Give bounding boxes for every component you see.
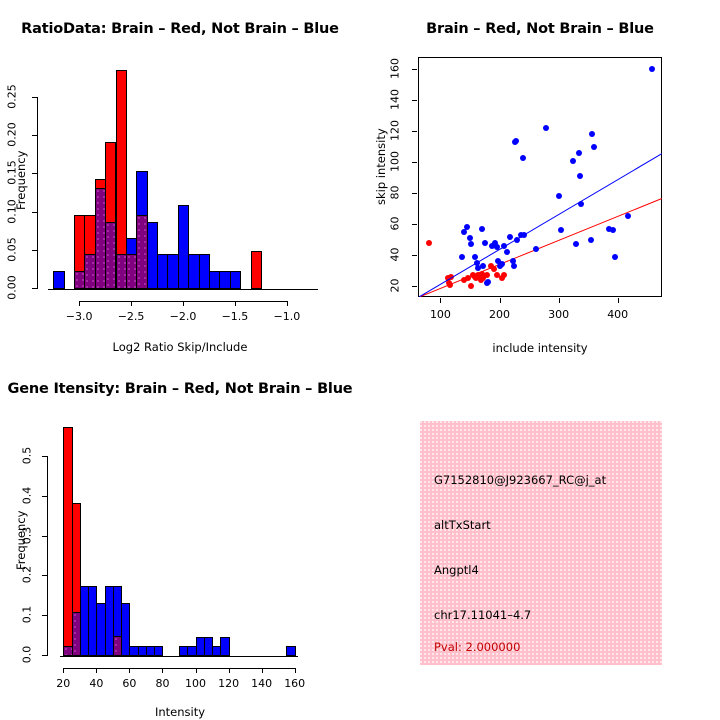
scatter-point-not-brain-21 [507, 234, 513, 240]
info-pval: Pval: 2.000000 [434, 640, 520, 654]
figure-canvas: RatioData: Brain – Red, Not Brain – Blue… [0, 0, 720, 720]
ratio-histogram-x-tick [79, 301, 80, 306]
info-gene-symbol: Angptl4 [434, 563, 479, 577]
gene-intensity-y-tick-label: 0.3 [21, 522, 34, 548]
scatter-y-tick-label: 100 [389, 149, 402, 175]
info-locus: chr17.11041–4.7 [434, 608, 531, 622]
gene-intensity-bar-blue-11 [154, 646, 163, 656]
gene-intensity-y-tick [42, 536, 47, 537]
ratio-histogram-x-tick [183, 301, 184, 306]
ratio-histogram-panel: RatioData: Brain – Red, Not Brain – Blue… [0, 0, 360, 360]
scatter-y-tick-label: 140 [389, 87, 402, 113]
ratio-histogram-y-tick [32, 135, 37, 136]
ratio-histogram-x-tick-label: −3.0 [59, 310, 99, 323]
scatter-y-tick [412, 224, 417, 225]
gene-intensity-y-tick-label: 0.1 [21, 602, 34, 628]
scatter-point-not-brain-41 [591, 144, 597, 150]
scatter-point-not-brain-39 [588, 237, 594, 243]
scatter-y-tick [412, 286, 417, 287]
scatter-point-not-brain-2 [464, 224, 470, 230]
info-panel-container: G7152810@J923667_RC@j_at altTxStart Angp… [360, 360, 720, 720]
scatter-point-not-brain-33 [558, 227, 564, 233]
gene-intensity-y-tick [42, 456, 47, 457]
gene-intensity-y-axis-line [47, 456, 48, 656]
scatter-point-not-brain-34 [570, 158, 576, 164]
gene-intensity-x-tick [162, 668, 163, 673]
gene-intensity-x-tick-rule [63, 668, 294, 669]
scatter-y-tick-label: 120 [389, 118, 402, 144]
gene-intensity-y-tick [42, 615, 47, 616]
scatter-x-tick [440, 298, 441, 303]
gene-intensity-y-tick [42, 575, 47, 576]
scatter-y-tick [412, 69, 417, 70]
gene-info-panel: G7152810@J923667_RC@j_at altTxStart Angp… [420, 421, 662, 665]
ratio-histogram-y-tick [32, 212, 37, 213]
scatter-y-tick-label: 20 [389, 273, 402, 299]
scatter-point-not-brain-31 [543, 125, 549, 131]
info-probe-id: G7152810@J923667_RC@j_at [434, 473, 606, 487]
gene-intensity-y-tick-label: 0.4 [21, 482, 34, 508]
scatter-y-tick [412, 193, 417, 194]
scatter-x-tick-label: 200 [480, 308, 520, 321]
scatter-point-not-brain-5 [472, 254, 478, 260]
gene-intensity-x-tick [129, 668, 130, 673]
ratio-histogram-y-tick [32, 97, 37, 98]
scatter-point-not-brain-28 [520, 155, 526, 161]
gene-intensity-histogram-plot-area: 0.00.10.20.30.40.520406080100120140160 [0, 360, 360, 720]
scatter-y-tick [412, 255, 417, 256]
scatter-point-not-brain-23 [511, 263, 517, 269]
ratio-histogram-bar-blue-0 [53, 271, 64, 289]
scatter-point-not-brain-29 [521, 232, 527, 238]
gene-intensity-x-tick [96, 668, 97, 673]
gene-intensity-bar-blue-27 [286, 646, 295, 656]
scatter-point-not-brain-3 [467, 235, 473, 241]
ratio-histogram-x-tick-label: −1.5 [215, 310, 255, 323]
scatter-point-not-brain-12 [485, 279, 491, 285]
gene-intensity-bar-blue-19 [220, 637, 229, 656]
ratio-histogram-plot-area: 0.000.050.100.150.200.25−3.0−2.5−2.0−1.5… [0, 0, 360, 360]
scatter-point-brain-21 [501, 272, 507, 278]
gene-intensity-y-tick-label: 0.2 [21, 562, 34, 588]
scatter-panel: Brain – Red, Not Brain – Blue skip inten… [360, 0, 720, 360]
scatter-point-brain-16 [484, 272, 490, 278]
ratio-histogram-bar-blue-17 [230, 271, 241, 289]
ratio-histogram-y-axis-line [37, 97, 38, 289]
ratio-histogram-y-tick-label: 0.05 [6, 233, 19, 265]
scatter-x-tick [559, 298, 560, 303]
scatter-point-brain-18 [491, 266, 497, 272]
ratio-histogram-y-tick-label: 0.25 [6, 81, 19, 113]
ratio-histogram-bar-red-19 [251, 251, 262, 289]
scatter-point-brain-0 [426, 240, 432, 246]
gene-intensity-x-tick [196, 668, 197, 673]
scatter-point-not-brain-37 [577, 173, 583, 179]
scatter-fit-line-not-brain [419, 153, 662, 297]
gene-intensity-x-tick-label: 160 [275, 677, 315, 690]
scatter-point-not-brain-43 [610, 227, 616, 233]
scatter-point-not-brain-4 [468, 241, 474, 247]
scatter-point-not-brain-36 [576, 150, 582, 156]
scatter-x-tick-label: 300 [539, 308, 579, 321]
gene-intensity-y-tick-label: 0.5 [21, 443, 34, 469]
gene-intensity-y-tick-label: 0.0 [21, 642, 34, 668]
info-event-type: altTxStart [434, 518, 491, 532]
gene-intensity-x-tick [63, 668, 64, 673]
scatter-y-tick [412, 162, 417, 163]
ratio-histogram-y-tick [32, 173, 37, 174]
gene-intensity-x-tick [295, 668, 296, 673]
gene-intensity-x-tick [262, 668, 263, 673]
scatter-plot-area: 20406080100120140160100200300400 [360, 0, 720, 360]
scatter-point-not-brain-20 [504, 249, 510, 255]
scatter-point-not-brain-0 [459, 254, 465, 260]
scatter-y-tick-label: 160 [389, 56, 402, 82]
scatter-point-brain-3 [447, 282, 453, 288]
scatter-x-tick-label: 100 [420, 308, 460, 321]
scatter-y-tick [412, 100, 417, 101]
ratio-histogram-x-tick [287, 301, 288, 306]
gene-intensity-x-axis-line [60, 656, 298, 657]
scatter-point-brain-7 [468, 283, 474, 289]
ratio-histogram-y-tick [32, 288, 37, 289]
scatter-point-not-brain-30 [533, 246, 539, 252]
scatter-point-not-brain-19 [501, 243, 507, 249]
ratio-histogram-x-axis-line [48, 289, 318, 290]
scatter-point-not-brain-35 [573, 241, 579, 247]
scatter-y-tick-label: 60 [389, 211, 402, 237]
scatter-clip [419, 58, 662, 297]
scatter-point-not-brain-46 [649, 66, 655, 72]
scatter-point-not-brain-9 [480, 263, 486, 269]
ratio-histogram-y-tick-label: 0.15 [6, 157, 19, 189]
ratio-histogram-x-tick-label: −2.5 [111, 310, 151, 323]
scatter-x-tick-label: 400 [598, 308, 638, 321]
ratio-histogram-x-tick [235, 301, 236, 306]
scatter-point-not-brain-25 [513, 138, 519, 144]
gene-intensity-x-tick [229, 668, 230, 673]
scatter-point-not-brain-45 [625, 213, 631, 219]
ratio-histogram-y-tick [32, 250, 37, 251]
scatter-point-not-brain-18 [499, 261, 505, 267]
scatter-x-tick [500, 298, 501, 303]
ratio-histogram-x-tick [131, 301, 132, 306]
ratio-histogram-x-tick-label: −1.0 [267, 310, 307, 323]
scatter-point-not-brain-8 [479, 226, 485, 232]
scatter-point-not-brain-32 [556, 193, 562, 199]
scatter-y-tick [412, 131, 417, 132]
scatter-point-not-brain-38 [578, 201, 584, 207]
ratio-histogram-y-tick-label: 0.00 [6, 272, 19, 304]
gene-intensity-y-tick [42, 655, 47, 656]
gene-intensity-histogram-panel: Gene Itensity: Brain – Red, Not Brain – … [0, 360, 360, 720]
ratio-histogram-x-tick-label: −2.0 [163, 310, 203, 323]
scatter-point-not-brain-10 [482, 240, 488, 246]
scatter-y-tick-label: 40 [389, 242, 402, 268]
scatter-y-tick-label: 80 [389, 180, 402, 206]
scatter-point-not-brain-44 [612, 254, 618, 260]
ratio-histogram-y-tick-label: 0.20 [6, 119, 19, 151]
scatter-x-tick [618, 298, 619, 303]
scatter-point-not-brain-40 [589, 131, 595, 137]
ratio-histogram-y-tick-label: 0.10 [6, 195, 19, 227]
gene-intensity-y-tick [42, 496, 47, 497]
